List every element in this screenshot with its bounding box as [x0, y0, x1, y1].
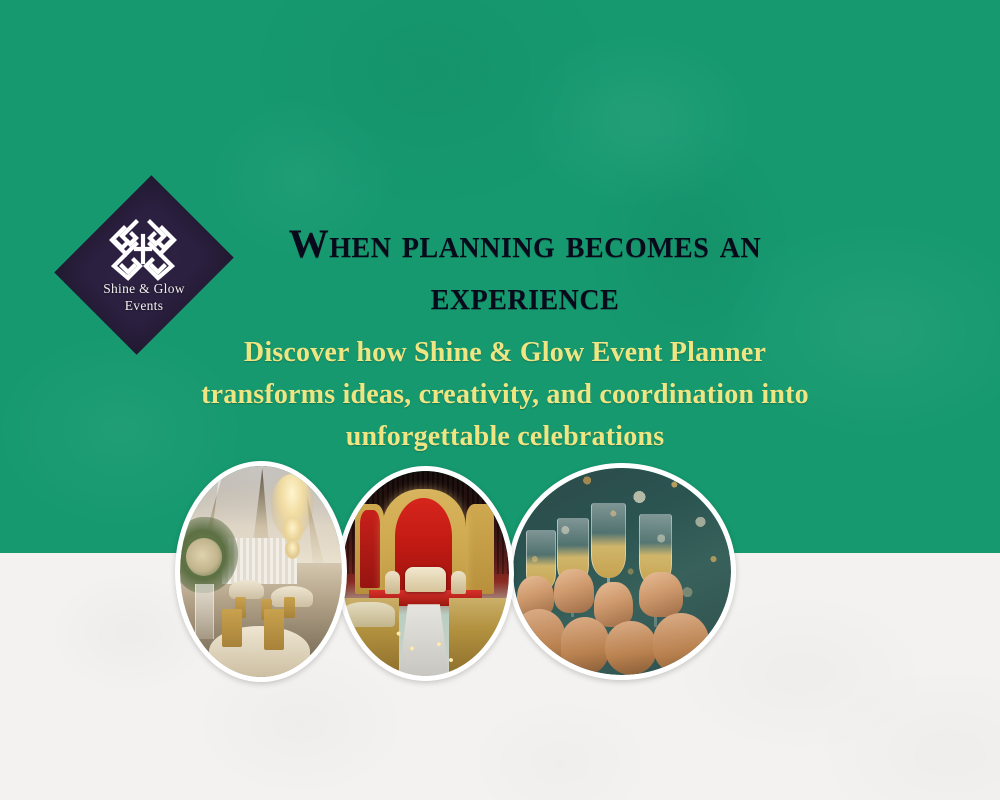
headline-line-2: experience	[205, 270, 845, 322]
arm	[605, 621, 657, 675]
stage-chair-right	[451, 571, 466, 594]
logo-wordmark: Shine & Glow Events	[80, 280, 208, 314]
champagne-flute	[591, 503, 626, 578]
stage-sofa	[405, 567, 445, 592]
gold-chiavari-chair	[222, 609, 241, 647]
brand-logo[interactable]: Shine & Glow Events	[80, 188, 208, 342]
subheading: Discover how Shine & Glow Event Planner …	[140, 332, 870, 458]
stage-chair-left	[385, 571, 400, 594]
subheading-line-1: Discover how Shine & Glow Event Planner	[140, 332, 870, 374]
gold-chiavari-chair	[284, 597, 295, 618]
glass-vase	[195, 584, 215, 639]
guest-seating-left-covers	[342, 602, 395, 627]
logo-wordmark-line-1: Shine & Glow	[103, 281, 185, 296]
subheading-line-2: transforms ideas, creativity, and coordi…	[140, 374, 870, 416]
banquet-table	[229, 580, 265, 599]
page-title: When planning becomes an experience	[205, 218, 845, 322]
hand	[554, 569, 593, 612]
aisle-candles	[392, 623, 459, 676]
arm	[561, 617, 609, 675]
promo-banner: Shine & Glow Events When planning become…	[0, 0, 1000, 800]
arm	[653, 613, 710, 675]
headline-line-1: When planning becomes an	[205, 218, 845, 270]
gold-chiavari-chair	[264, 609, 283, 649]
arm	[513, 609, 565, 675]
hand	[639, 572, 683, 618]
crystal-chandelier	[285, 540, 300, 559]
side-panel-left-inset	[360, 510, 380, 588]
floral-centerpiece-blooms	[186, 538, 222, 576]
side-panel-right	[466, 504, 494, 594]
photo-marquee-reception	[175, 461, 347, 682]
sg-monogram-icon	[106, 216, 182, 282]
photo-champagne-toast	[508, 463, 736, 680]
logo-wordmark-line-2: Events	[80, 297, 208, 314]
photo-wedding-mandap	[337, 466, 514, 681]
subheading-line-3: unforgettable celebrations	[140, 416, 870, 458]
